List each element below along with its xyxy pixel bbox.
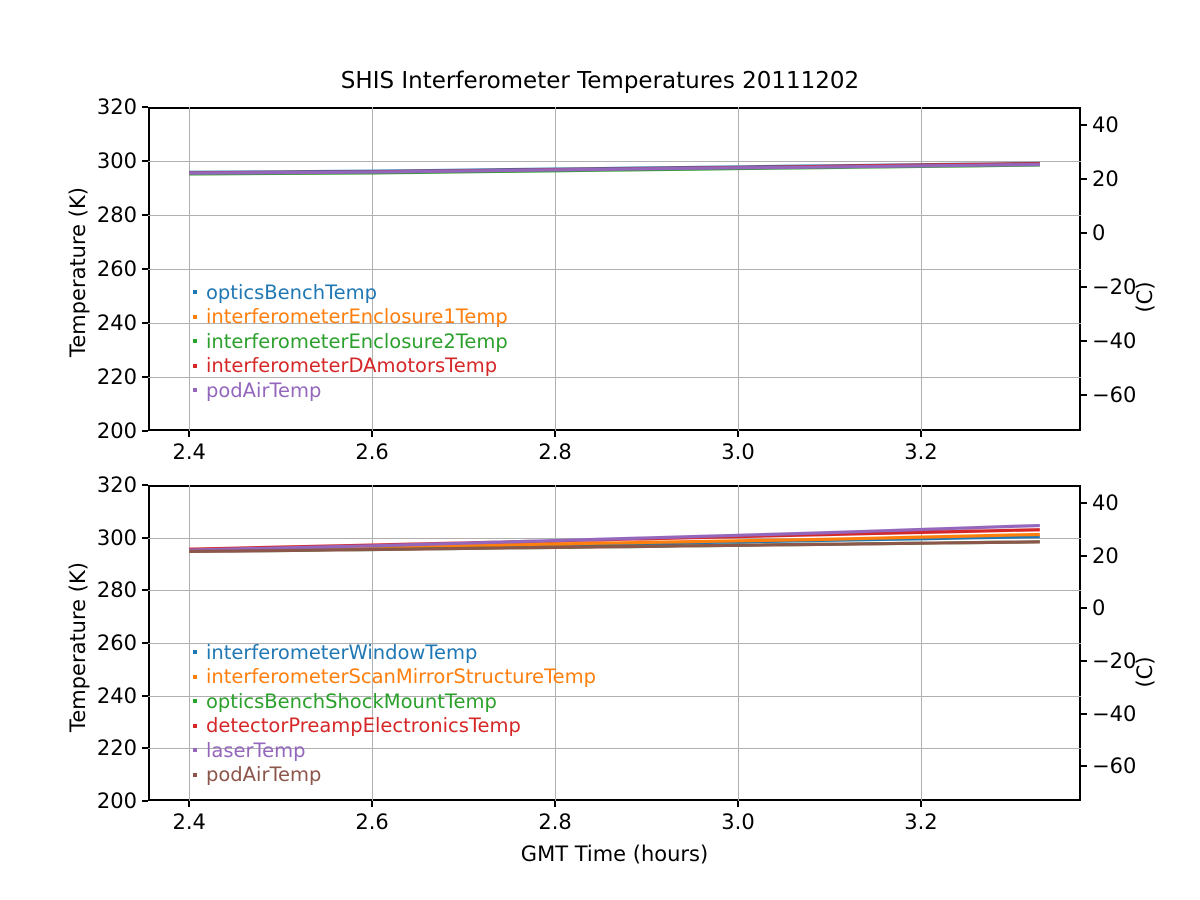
- chart-panel-top: 200220240260280300320−60−40−20020402.42.…: [148, 107, 1081, 431]
- legend-item[interactable]: interferometerEnclosure2Temp: [184, 329, 508, 354]
- legend-label: detectorPreampElectronicsTemp: [206, 716, 521, 736]
- y-tick-label: 260: [97, 631, 148, 655]
- legend-label: interferometerEnclosure2Temp: [206, 332, 508, 352]
- legend-item[interactable]: opticsBenchShockMountTemp: [184, 689, 596, 714]
- legend-color-swatch: [193, 315, 197, 319]
- right-tick-label: −20: [1081, 649, 1136, 673]
- legend-item[interactable]: interferometerDAmotorsTemp: [184, 354, 508, 379]
- x-axis-label: GMT Time (hours): [148, 842, 1081, 866]
- figure-canvas: SHIS Interferometer Temperatures 2011120…: [0, 0, 1200, 900]
- legend-label: interferometerEnclosure1Temp: [206, 307, 508, 327]
- legend-color-swatch: [193, 724, 197, 728]
- legend-top: opticsBenchTempinterferometerEnclosure1T…: [184, 280, 508, 403]
- legend-item[interactable]: laserTemp: [184, 738, 596, 763]
- x-tick-label: 3.0: [721, 431, 754, 464]
- y-tick-label: 320: [97, 473, 148, 497]
- y-tick-label: 240: [97, 311, 148, 335]
- legend-marker-icon: [184, 339, 206, 343]
- legend-marker-icon: [184, 364, 206, 368]
- right-tick-label: 20: [1081, 544, 1119, 568]
- legend-color-swatch: [193, 650, 197, 654]
- legend-marker-icon: [184, 748, 206, 752]
- legend-label: interferometerWindowTemp: [206, 643, 477, 663]
- right-tick-label: 0: [1081, 221, 1105, 245]
- right-tick-label: −20: [1081, 275, 1136, 299]
- x-tick-label: 2.8: [538, 431, 571, 464]
- legend-color-swatch: [193, 388, 197, 392]
- right-tick-label: 0: [1081, 596, 1105, 620]
- y-tick-label: 300: [97, 149, 148, 173]
- legend-label: podAirTemp: [206, 381, 321, 401]
- legend-item[interactable]: interferometerWindowTemp: [184, 640, 596, 665]
- right-axis-label-top: (C): [1133, 257, 1157, 337]
- y-tick-label: 200: [97, 419, 148, 443]
- right-tick-label: 40: [1081, 491, 1119, 515]
- legend-color-swatch: [193, 364, 197, 368]
- legend-color-swatch: [193, 675, 197, 679]
- chart-panel-bottom: 200220240260280300320−60−40−20020402.42.…: [148, 485, 1081, 801]
- legend-color-swatch: [193, 773, 197, 777]
- legend-item[interactable]: podAirTemp: [184, 763, 596, 788]
- x-tick-label: 2.6: [355, 431, 388, 464]
- legend-label: opticsBenchShockMountTemp: [206, 692, 497, 712]
- legend-color-swatch: [193, 748, 197, 752]
- y-axis-label-top: Temperature (K): [66, 172, 90, 372]
- legend-color-swatch: [193, 339, 197, 343]
- legend-marker-icon: [184, 699, 206, 703]
- legend-marker-icon: [184, 724, 206, 728]
- right-tick-label: 40: [1081, 113, 1119, 137]
- legend-bottom: interferometerWindowTempinterferometerSc…: [184, 640, 596, 787]
- right-tick-label: −60: [1081, 383, 1136, 407]
- legend-color-swatch: [193, 290, 197, 294]
- legend-label: interferometerDAmotorsTemp: [206, 356, 497, 376]
- x-tick-label: 3.2: [904, 431, 937, 464]
- legend-item[interactable]: opticsBenchTemp: [184, 280, 508, 305]
- x-tick-label: 2.4: [172, 801, 205, 834]
- legend-label: laserTemp: [206, 741, 306, 761]
- y-tick-label: 320: [97, 95, 148, 119]
- right-tick-label: 20: [1081, 167, 1119, 191]
- right-tick-label: −40: [1081, 329, 1136, 353]
- legend-label: opticsBenchTemp: [206, 283, 377, 303]
- x-tick-label: 3.0: [721, 801, 754, 834]
- legend-marker-icon: [184, 388, 206, 392]
- y-tick-label: 220: [97, 736, 148, 760]
- y-tick-label: 220: [97, 365, 148, 389]
- legend-marker-icon: [184, 773, 206, 777]
- legend-item[interactable]: detectorPreampElectronicsTemp: [184, 714, 596, 739]
- legend-color-swatch: [193, 699, 197, 703]
- right-axis-label-bottom: (C): [1133, 632, 1157, 712]
- legend-marker-icon: [184, 675, 206, 679]
- y-tick-label: 280: [97, 578, 148, 602]
- x-tick-label: 3.2: [904, 801, 937, 834]
- y-tick-label: 300: [97, 526, 148, 550]
- y-tick-label: 200: [97, 789, 148, 813]
- legend-marker-icon: [184, 315, 206, 319]
- legend-item[interactable]: interferometerScanMirrorStructureTemp: [184, 665, 596, 690]
- y-tick-label: 260: [97, 257, 148, 281]
- legend-marker-icon: [184, 290, 206, 294]
- legend-item[interactable]: podAirTemp: [184, 378, 508, 403]
- legend-label: interferometerScanMirrorStructureTemp: [206, 667, 596, 687]
- figure-title: SHIS Interferometer Temperatures 2011120…: [0, 68, 1200, 94]
- series-line: [189, 165, 1040, 174]
- x-tick-label: 2.8: [538, 801, 571, 834]
- legend-item[interactable]: interferometerEnclosure1Temp: [184, 305, 508, 330]
- y-axis-label-bottom: Temperature (K): [66, 547, 90, 747]
- legend-label: podAirTemp: [206, 765, 321, 785]
- y-tick-label: 240: [97, 684, 148, 708]
- legend-marker-icon: [184, 650, 206, 654]
- right-tick-label: −60: [1081, 754, 1136, 778]
- right-tick-label: −40: [1081, 702, 1136, 726]
- x-tick-label: 2.4: [172, 431, 205, 464]
- y-tick-label: 280: [97, 203, 148, 227]
- x-tick-label: 2.6: [355, 801, 388, 834]
